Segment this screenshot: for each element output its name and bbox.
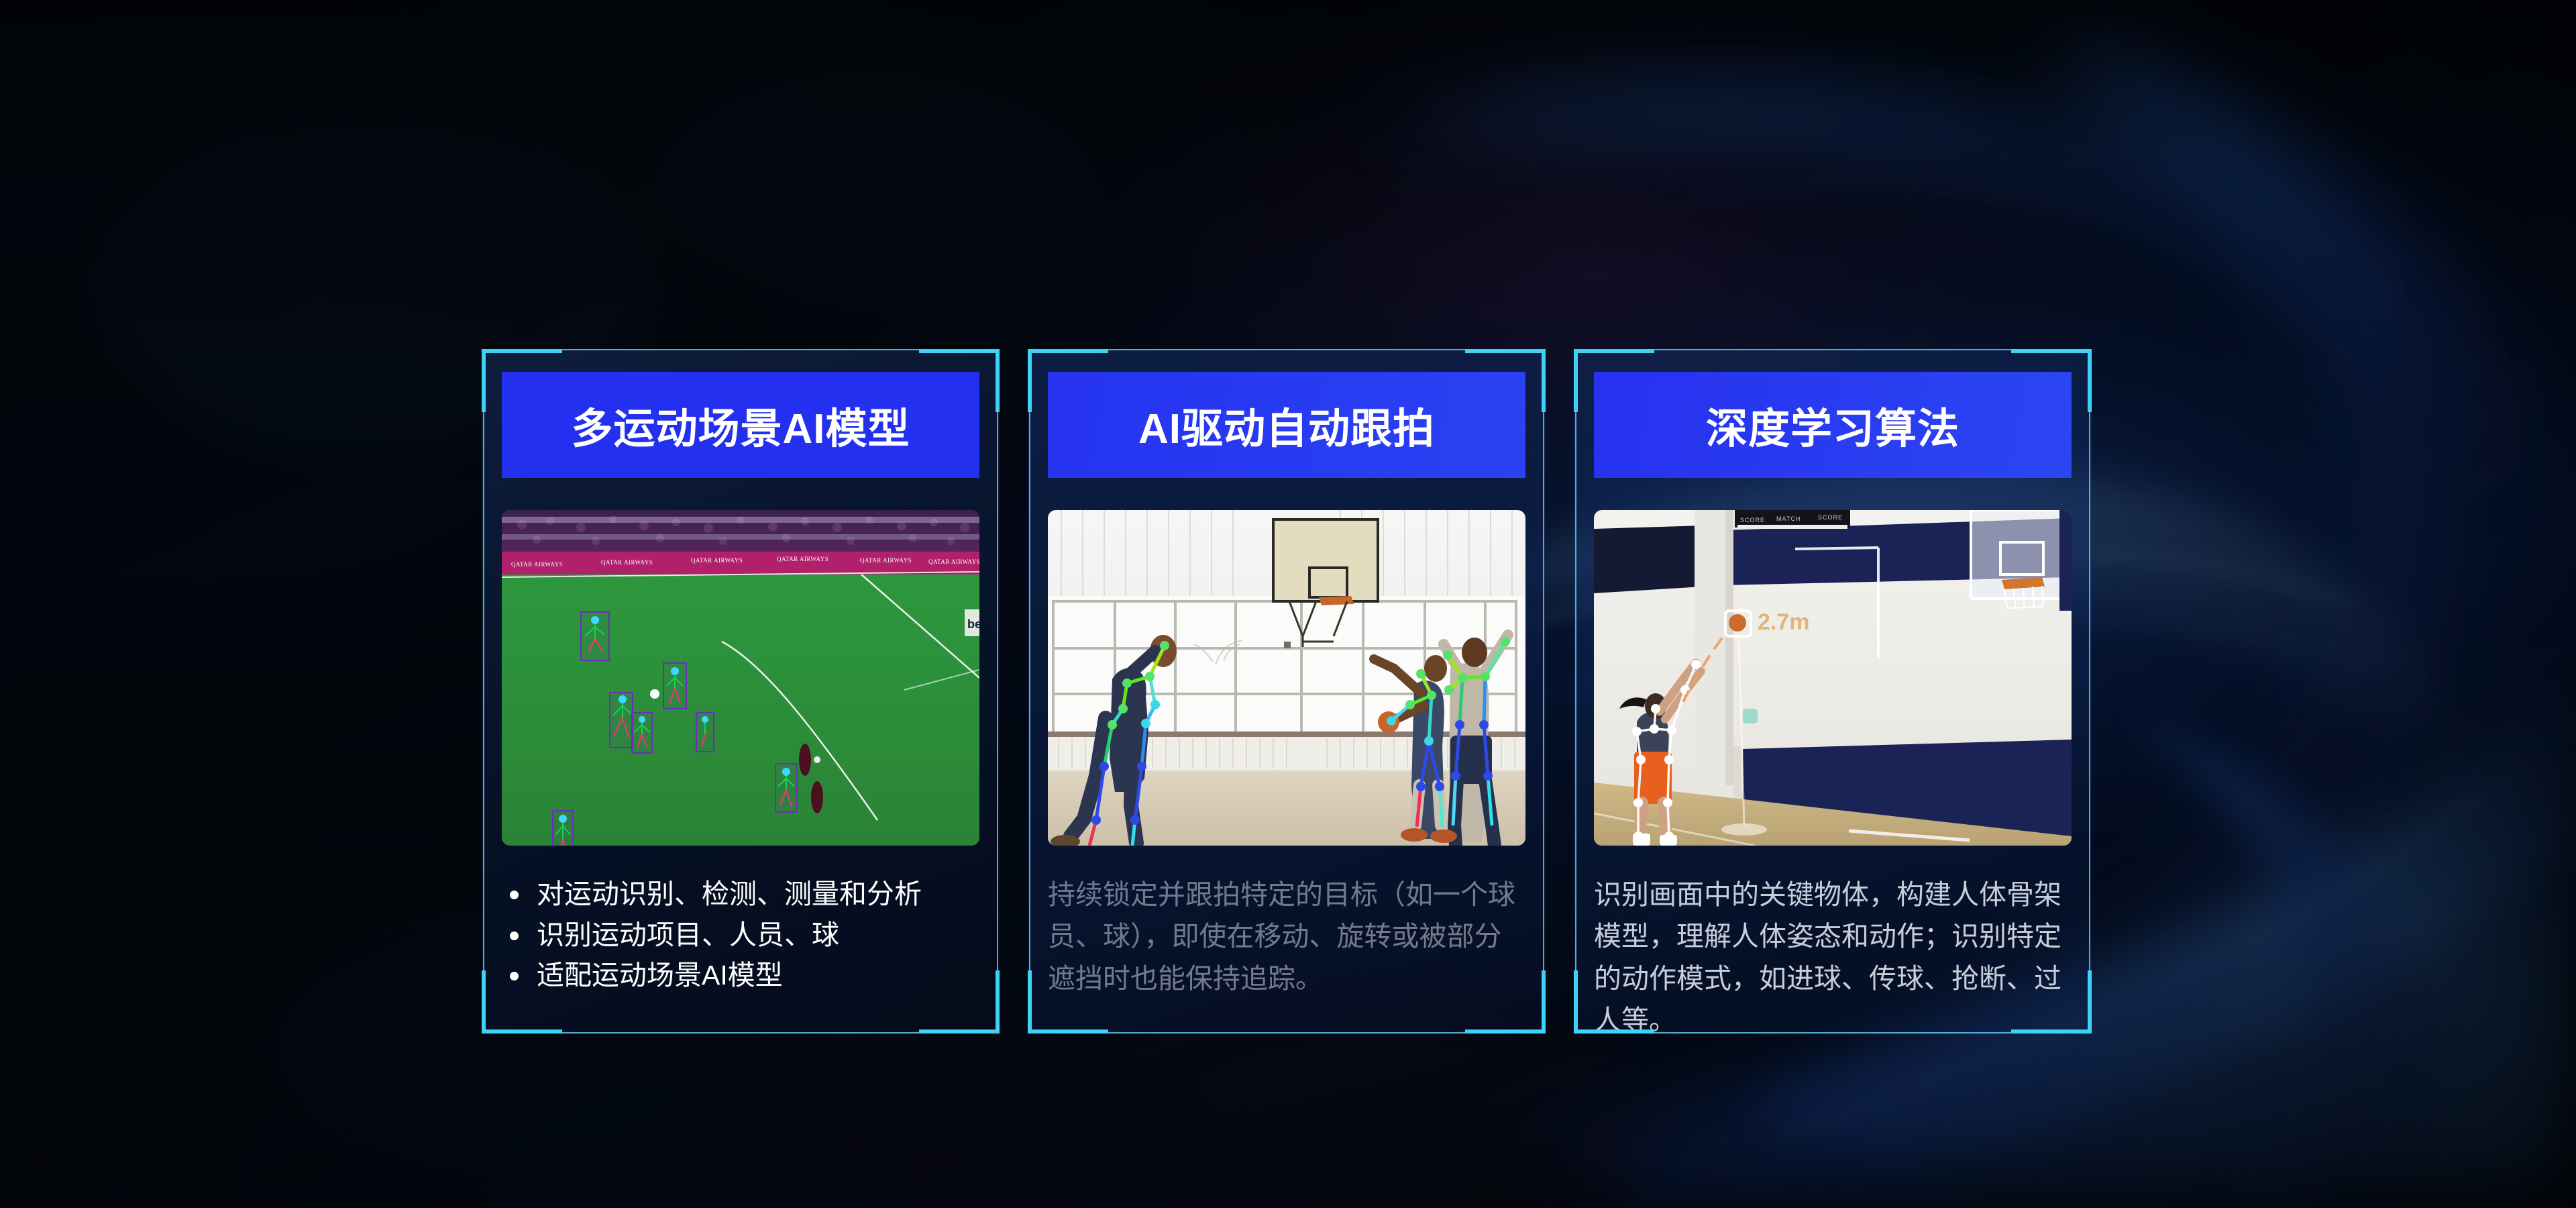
svg-text:QATAR AIRWAYS: QATAR AIRWAYS — [860, 557, 912, 564]
basketball-shot-measurement-image: SCORE MATCH SCORE — [1594, 510, 2072, 846]
feature-card-deep-learning-algorithm[interactable]: 深度学习算法 — [1574, 349, 2092, 1034]
feature-card-ai-auto-tracking[interactable]: AI驱动自动跟拍 — [1028, 349, 1546, 1034]
corner-bracket-bottom-right-vertical — [2088, 970, 2092, 1034]
corner-bracket-bottom-right-vertical — [996, 970, 1000, 1034]
card-edge-top — [1654, 349, 2011, 350]
card-header-bar: AI驱动自动跟拍 — [1048, 372, 1525, 478]
corner-bracket-top-left-vertical — [1574, 349, 1578, 412]
card-edge-right — [997, 412, 998, 970]
list-item: 对运动识别、检测、测量和分析 — [502, 874, 979, 915]
card-body: 对运动识别、检测、测量和分析 识别运动项目、人员、球 适配运动场景AI模型 — [502, 874, 979, 996]
corner-bracket-top-left-horizontal — [1574, 349, 1654, 353]
card-title: AI驱动自动跟拍 — [1138, 395, 1435, 455]
feature-cards-row: 多运动场景AI模型 — [482, 349, 2285, 1034]
svg-text:QATAR AIRWAYS: QATAR AIRWAYS — [928, 558, 979, 565]
basketball-gym-pose-tracking-image — [1048, 510, 1525, 846]
card-body: 持续锁定并跟拍特定的目标（如一个球员、球），即使在移动、旋转或被部分遮挡时也能保… — [1048, 874, 1525, 999]
corner-bracket-bottom-right-vertical — [1542, 970, 1546, 1034]
corner-bracket-top-right-vertical — [1542, 349, 1546, 412]
svg-text:SCORE: SCORE — [1740, 517, 1765, 523]
card-edge-bottom — [562, 1032, 919, 1034]
corner-bracket-bottom-left-vertical — [482, 970, 486, 1034]
card-title: 深度学习算法 — [1706, 395, 1960, 455]
corner-bracket-top-right-vertical — [996, 349, 1000, 412]
card-edge-top — [1108, 349, 1465, 350]
svg-text:QATAR AIRWAYS: QATAR AIRWAYS — [511, 561, 563, 568]
card-edge-top — [562, 349, 919, 350]
card-edge-left — [1029, 412, 1030, 970]
corner-bracket-top-right-vertical — [2088, 349, 2092, 412]
corner-bracket-top-left-vertical — [482, 349, 486, 412]
svg-text:SCORE: SCORE — [1818, 514, 1843, 521]
svg-text:MATCH: MATCH — [1776, 515, 1801, 522]
card-description: 持续锁定并跟拍特定的目标（如一个球员、球），即使在移动、旋转或被部分遮挡时也能保… — [1048, 874, 1525, 999]
card-title: 多运动场景AI模型 — [571, 395, 910, 455]
svg-text:2.7m: 2.7m — [1758, 609, 1810, 635]
soccer-pose-detection-image: QATAR AIRWAYS QATAR AIRWAYS QATAR AIRWAY… — [502, 510, 979, 846]
list-item: 适配运动场景AI模型 — [502, 955, 979, 996]
card-header-bar: 多运动场景AI模型 — [502, 372, 979, 478]
list-item: 识别运动项目、人员、球 — [502, 915, 979, 956]
card-header-bar: 深度学习算法 — [1594, 372, 2072, 478]
corner-bracket-bottom-left-horizontal — [1028, 1029, 1108, 1034]
card-edge-left — [483, 412, 484, 970]
corner-bracket-top-left-vertical — [1028, 349, 1032, 412]
card-description: 识别画面中的关键物体，构建人体骨架模型，理解人体姿态和动作；识别特定的动作模式，… — [1594, 874, 2072, 1041]
card-edge-bottom — [1108, 1032, 1465, 1034]
corner-bracket-bottom-left-horizontal — [482, 1029, 562, 1034]
corner-bracket-top-right-horizontal — [2011, 349, 2092, 353]
svg-text:QATAR AIRWAYS: QATAR AIRWAYS — [691, 557, 743, 564]
card-edge-left — [1575, 412, 1576, 970]
svg-text:be: be — [967, 617, 979, 631]
corner-bracket-top-left-horizontal — [1028, 349, 1108, 353]
feature-card-multi-sport-ai-model[interactable]: 多运动场景AI模型 — [482, 349, 1000, 1034]
svg-text:QATAR AIRWAYS: QATAR AIRWAYS — [777, 556, 828, 562]
card-body: 识别画面中的关键物体，构建人体骨架模型，理解人体姿态和动作；识别特定的动作模式，… — [1594, 874, 2072, 1041]
card-edge-right — [1543, 412, 1544, 970]
card-edge-right — [2089, 412, 2090, 970]
corner-bracket-bottom-right-horizontal — [919, 1029, 1000, 1034]
corner-bracket-top-right-horizontal — [919, 349, 1000, 353]
feature-bullet-list: 对运动识别、检测、测量和分析 识别运动项目、人员、球 适配运动场景AI模型 — [502, 874, 979, 996]
corner-bracket-top-right-horizontal — [1465, 349, 1546, 353]
corner-bracket-bottom-left-vertical — [1574, 970, 1578, 1034]
svg-text:QATAR AIRWAYS: QATAR AIRWAYS — [601, 559, 653, 566]
corner-bracket-bottom-left-vertical — [1028, 970, 1032, 1034]
corner-bracket-bottom-right-horizontal — [1465, 1029, 1546, 1034]
corner-bracket-top-left-horizontal — [482, 349, 562, 353]
